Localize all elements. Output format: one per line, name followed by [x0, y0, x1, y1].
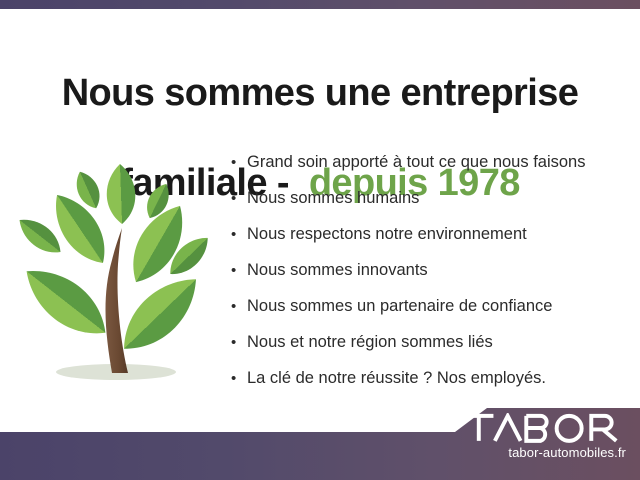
list-item: Nous et notre région sommes liés — [228, 330, 628, 366]
slide-canvas: Nous sommes une entreprise familiale - d… — [0, 0, 640, 480]
logo-tagline: tabor-automobiles.fr — [462, 445, 626, 461]
brand-logo[interactable]: tabor-automobiles.fr — [462, 413, 626, 461]
top-accent-bar — [0, 0, 640, 9]
tree-icon — [8, 148, 223, 398]
list-item: Nous sommes un partenaire de confiance — [228, 294, 628, 330]
headline-line-1: Nous sommes une entreprise — [0, 71, 640, 116]
list-item: Nous respectons notre environnement — [228, 222, 628, 258]
list-item: Nous sommes humains — [228, 186, 628, 222]
list-item: Grand soin apporté à tout ce que nous fa… — [228, 150, 628, 186]
list-item: La clé de notre réussite ? Nos employés. — [228, 366, 628, 402]
value-list: Grand soin apporté à tout ce que nous fa… — [228, 150, 628, 402]
footer-band: tabor-automobiles.fr — [0, 400, 640, 480]
tree-trunk — [105, 228, 128, 373]
tree-illustration — [8, 148, 223, 398]
list-item: Nous sommes innovants — [228, 258, 628, 294]
tabor-wordmark-icon — [462, 413, 626, 443]
